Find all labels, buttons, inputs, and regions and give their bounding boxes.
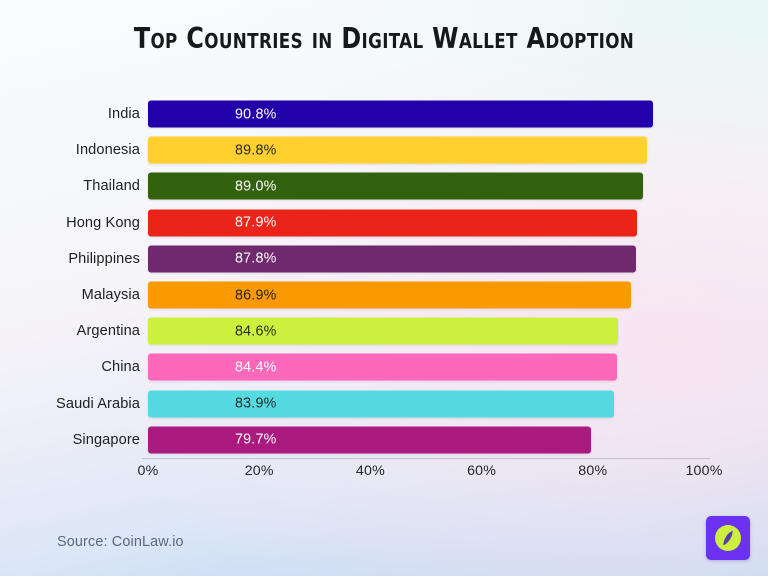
bar-row: Hong Kong87.9%: [0, 205, 768, 241]
bar-track: 89.8%: [148, 137, 704, 164]
bar: [148, 209, 637, 236]
bar-row: Saudi Arabia83.9%: [0, 386, 768, 422]
bar-value-label: 83.9%: [235, 396, 277, 412]
bar-track: 83.9%: [148, 390, 704, 417]
bar: [148, 354, 617, 381]
x-axis-tick: 60%: [467, 463, 496, 479]
category-label: Indonesia: [0, 142, 140, 158]
x-axis-tick: 80%: [578, 463, 607, 479]
category-label: Malaysia: [0, 287, 140, 303]
bar-value-label: 90.8%: [235, 106, 277, 122]
bar: [148, 390, 614, 417]
category-label: Hong Kong: [0, 215, 140, 231]
bar-track: 79.7%: [148, 426, 704, 453]
x-axis: 0%20%40%60%80%100%: [148, 458, 704, 484]
bar-value-label: 79.7%: [235, 432, 277, 448]
bar-row: Thailand89.0%: [0, 168, 768, 204]
bar-row: Singapore79.7%: [0, 422, 768, 458]
bar-track: 84.4%: [148, 354, 704, 381]
coinlaw-logo-badge[interactable]: [706, 516, 750, 560]
bar-value-label: 87.9%: [235, 215, 277, 231]
bar: [148, 318, 618, 345]
bar-value-label: 84.4%: [235, 359, 277, 375]
bar-value-label: 89.0%: [235, 178, 277, 194]
page-title: Top Countries in Digital Wallet Adoption: [27, 22, 741, 55]
x-axis-line: [142, 458, 710, 459]
bar-track: 90.8%: [148, 101, 704, 128]
bar-value-label: 89.8%: [235, 142, 277, 158]
bar-row: Malaysia86.9%: [0, 277, 768, 313]
chart-page: { "title": "Top Countries in Digital Wal…: [0, 0, 768, 576]
source-caption: Source: CoinLaw.io: [57, 534, 184, 550]
bar-row: India90.8%: [0, 96, 768, 132]
bar-chart-plot-area: India90.8%Indonesia89.8%Thailand89.0%Hon…: [0, 96, 768, 458]
x-axis-tick: 0%: [138, 463, 159, 479]
bar-value-label: 87.8%: [235, 251, 277, 267]
x-axis-tick: 40%: [356, 463, 385, 479]
compass-icon: [713, 523, 743, 553]
category-label: Argentina: [0, 323, 140, 339]
bar: [148, 282, 631, 309]
bar-track: 86.9%: [148, 282, 704, 309]
x-axis-tick: 20%: [245, 463, 274, 479]
bar-row: Philippines87.8%: [0, 241, 768, 277]
x-axis-tick: 100%: [685, 463, 722, 479]
bar-track: 89.0%: [148, 173, 704, 200]
bar-track: 87.8%: [148, 245, 704, 272]
bar: [148, 137, 647, 164]
bar-row: Argentina84.6%: [0, 313, 768, 349]
category-label: Thailand: [0, 178, 140, 194]
bar: [148, 101, 653, 128]
category-label: China: [0, 359, 140, 375]
bar-track: 84.6%: [148, 318, 704, 345]
category-label: Singapore: [0, 432, 140, 448]
bar-row: Indonesia89.8%: [0, 132, 768, 168]
bar-row: China84.4%: [0, 349, 768, 385]
bar: [148, 173, 643, 200]
bar-value-label: 86.9%: [235, 287, 277, 303]
category-label: Philippines: [0, 251, 140, 267]
bar: [148, 426, 591, 453]
category-label: Saudi Arabia: [0, 396, 140, 412]
bar-track: 87.9%: [148, 209, 704, 236]
category-label: India: [0, 106, 140, 122]
bar: [148, 245, 636, 272]
bar-value-label: 84.6%: [235, 323, 277, 339]
